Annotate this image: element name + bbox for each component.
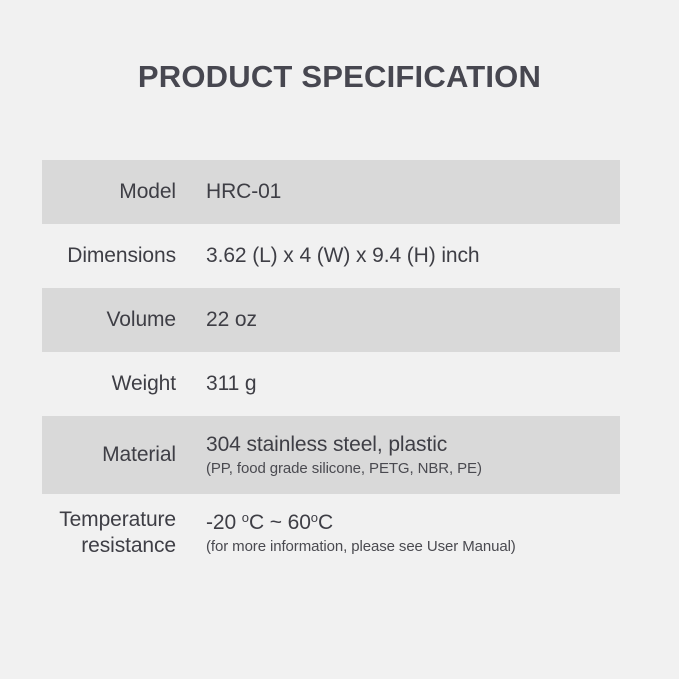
spec-label: Model: [42, 179, 206, 205]
spec-label-line1: Temperature: [59, 508, 176, 531]
temperature-min: -20: [206, 511, 242, 534]
spec-value-cell: -20 oC ~ 60oC (for more information, ple…: [206, 510, 620, 557]
temperature-mid: C ~ 60: [249, 511, 311, 534]
spec-label-line2: resistance: [42, 533, 176, 559]
spec-value-cell: 304 stainless steel, plastic (PP, food g…: [206, 432, 620, 479]
spec-value: 3.62 (L) x 4 (W) x 9.4 (H) inch: [206, 243, 620, 269]
spec-value-note: (PP, food grade silicone, PETG, NBR, PE): [206, 459, 620, 479]
spec-value-note: (for more information, please see User M…: [206, 537, 620, 557]
spec-label: Volume: [42, 307, 206, 333]
spec-value-cell: 311 g: [206, 371, 620, 397]
table-row: Material 304 stainless steel, plastic (P…: [42, 416, 620, 494]
specification-table: Model HRC-01 Dimensions 3.62 (L) x 4 (W)…: [42, 160, 620, 572]
spec-label: Temperature resistance: [42, 507, 206, 559]
spec-label: Dimensions: [42, 243, 206, 269]
spec-value-cell: 22 oz: [206, 307, 620, 333]
page-title: PRODUCT SPECIFICATION: [0, 57, 679, 97]
table-row: Model HRC-01: [42, 160, 620, 224]
spec-value-cell: 3.62 (L) x 4 (W) x 9.4 (H) inch: [206, 243, 620, 269]
table-row: Weight 311 g: [42, 352, 620, 416]
table-row: Temperature resistance -20 oC ~ 60oC (fo…: [42, 494, 620, 572]
table-row: Volume 22 oz: [42, 288, 620, 352]
degree-symbol-icon: o: [242, 510, 249, 525]
product-specification-page: PRODUCT SPECIFICATION Model HRC-01 Dimen…: [0, 0, 679, 679]
degree-symbol-icon: o: [311, 510, 318, 525]
spec-value: -20 oC ~ 60oC: [206, 510, 620, 536]
spec-label: Weight: [42, 371, 206, 397]
spec-value: HRC-01: [206, 179, 620, 205]
spec-value: 304 stainless steel, plastic: [206, 432, 620, 458]
spec-label: Material: [42, 442, 206, 468]
spec-value: 311 g: [206, 371, 620, 397]
temperature-unit: C: [318, 511, 333, 534]
spec-value-cell: HRC-01: [206, 179, 620, 205]
spec-value: 22 oz: [206, 307, 620, 333]
table-row: Dimensions 3.62 (L) x 4 (W) x 9.4 (H) in…: [42, 224, 620, 288]
